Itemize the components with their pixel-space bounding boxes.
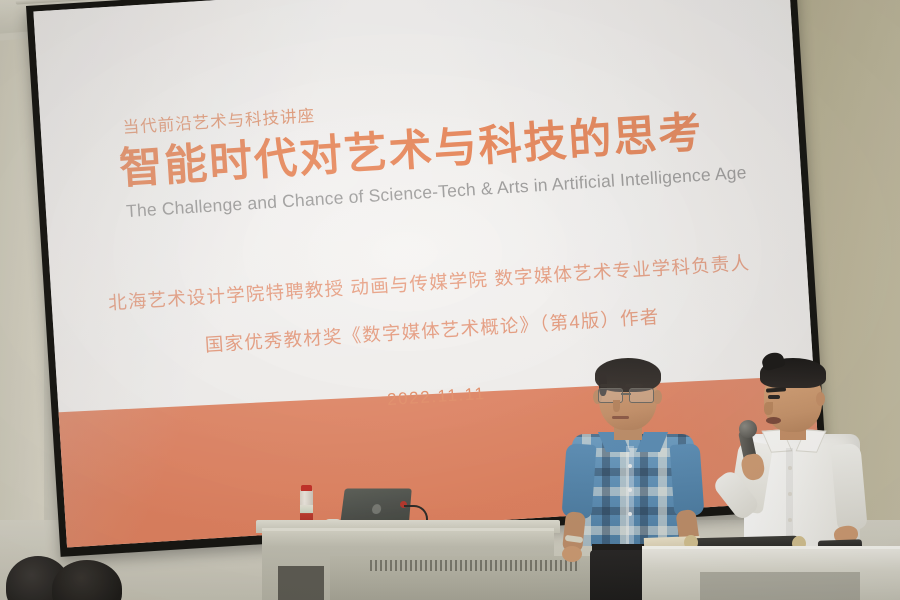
speaker-left-arm-left — [561, 443, 596, 519]
speaker-right-arm-right — [830, 443, 867, 531]
speaker-left-mouth — [612, 416, 629, 419]
apple-logo-icon — [372, 504, 382, 514]
speaker-right-eye — [768, 395, 780, 399]
speaker-left-eyebrow — [600, 384, 618, 387]
lectern-shadow — [700, 572, 860, 600]
speaker-right-nose — [764, 402, 773, 415]
eyeglass-bridge-icon — [621, 393, 631, 395]
speaker-right-shirt-button — [788, 466, 792, 470]
speaker-left-eyeglasses — [596, 388, 658, 402]
speaker-left-nose — [613, 400, 620, 412]
speaker-left-shirt-placket — [626, 446, 634, 544]
podium-vent-grille — [370, 560, 580, 571]
speaker-left-shirt-button — [628, 464, 632, 468]
podium-opening — [278, 566, 324, 600]
speaker-left-hand — [562, 546, 582, 562]
lecture-photo-scene: 当代前沿艺术与科技讲座 智能时代对艺术与科技的思考 The Challenge … — [0, 0, 900, 600]
screen-frame: 当代前沿艺术与科技讲座 智能时代对艺术与科技的思考 The Challenge … — [26, 0, 829, 557]
speaker-right-shirt-button — [788, 518, 792, 522]
speaker-left-shirt-button — [628, 512, 632, 516]
speaker-right-ear — [816, 392, 825, 406]
eyeglass-lens-icon — [629, 388, 654, 403]
speaker-right-mouth — [766, 417, 781, 424]
speaker-right-shirt-button — [788, 492, 792, 496]
speaker-left-arm-right — [670, 443, 705, 517]
bottle-cap — [301, 485, 312, 491]
projection-screen-assembly: 当代前沿艺术与科技讲座 智能时代对艺术与科技的思考 The Challenge … — [26, 0, 830, 565]
speaker-left-shirt-button — [628, 488, 632, 492]
speaker-left-eyebrow — [625, 384, 643, 387]
